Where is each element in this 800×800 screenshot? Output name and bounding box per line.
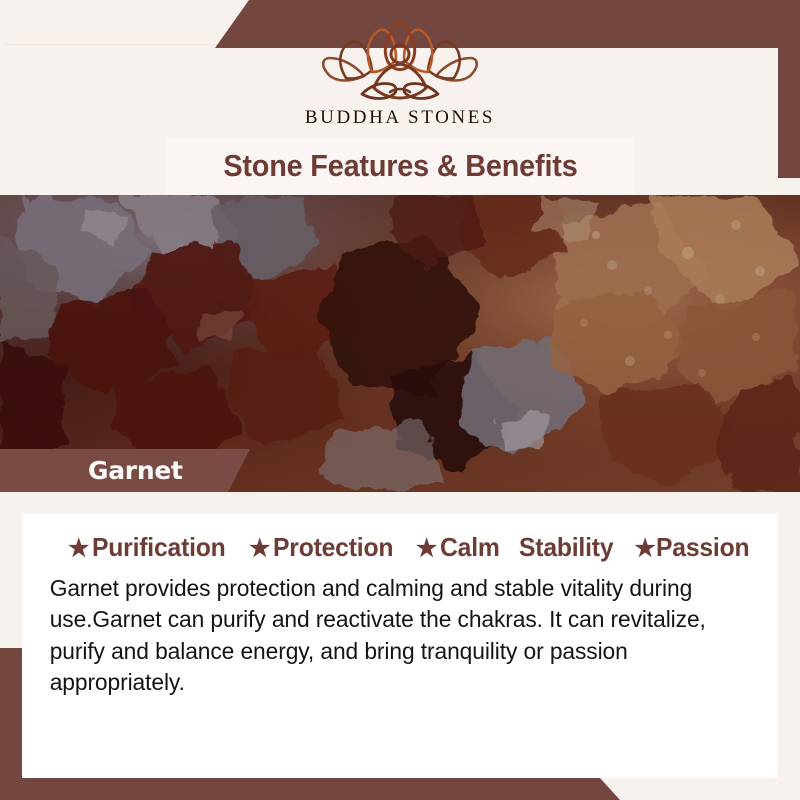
star-icon: ★ xyxy=(416,537,437,561)
feature-label: Purification xyxy=(92,532,226,563)
cream-divider-strip xyxy=(0,492,800,514)
brand-name: BUDDHA STONES xyxy=(305,107,495,129)
bottom-bar-decoration xyxy=(0,778,620,800)
feature-label: Protection xyxy=(273,532,393,563)
feature-item-purification: ★Purification xyxy=(68,532,233,563)
star-icon: ★ xyxy=(634,537,655,561)
feature-item-passion: ★Passion xyxy=(634,532,754,563)
title-band: Stone Features & Benefits xyxy=(165,137,635,195)
stone-name-label: Garnet xyxy=(0,456,183,485)
content-area: ★Purification★Protection★CalmStability★P… xyxy=(22,514,778,778)
feature-label: Calm xyxy=(440,532,500,563)
poster-canvas: BUDDHA STONES Stone Features & Benefits xyxy=(0,0,800,800)
left-edge-decoration xyxy=(0,648,22,778)
feature-label: Passion xyxy=(656,532,749,563)
feature-label: Stability xyxy=(519,532,613,563)
feature-item-protection: ★Protection xyxy=(249,532,400,563)
feature-item-calm: ★Calm xyxy=(416,532,503,563)
feature-item-stability: Stability xyxy=(519,532,618,563)
star-icon: ★ xyxy=(249,537,270,561)
brand-logo: BUDDHA STONES xyxy=(0,14,800,144)
stone-photo xyxy=(0,195,800,492)
stone-name-banner: Garnet xyxy=(0,449,250,492)
stone-description: Garnet provides protection and calming a… xyxy=(40,573,736,699)
feature-list: ★Purification★Protection★CalmStability★P… xyxy=(40,532,758,563)
page-title: Stone Features & Benefits xyxy=(223,148,577,184)
lotus-meditation-icon xyxy=(316,14,484,106)
star-icon: ★ xyxy=(68,537,89,561)
